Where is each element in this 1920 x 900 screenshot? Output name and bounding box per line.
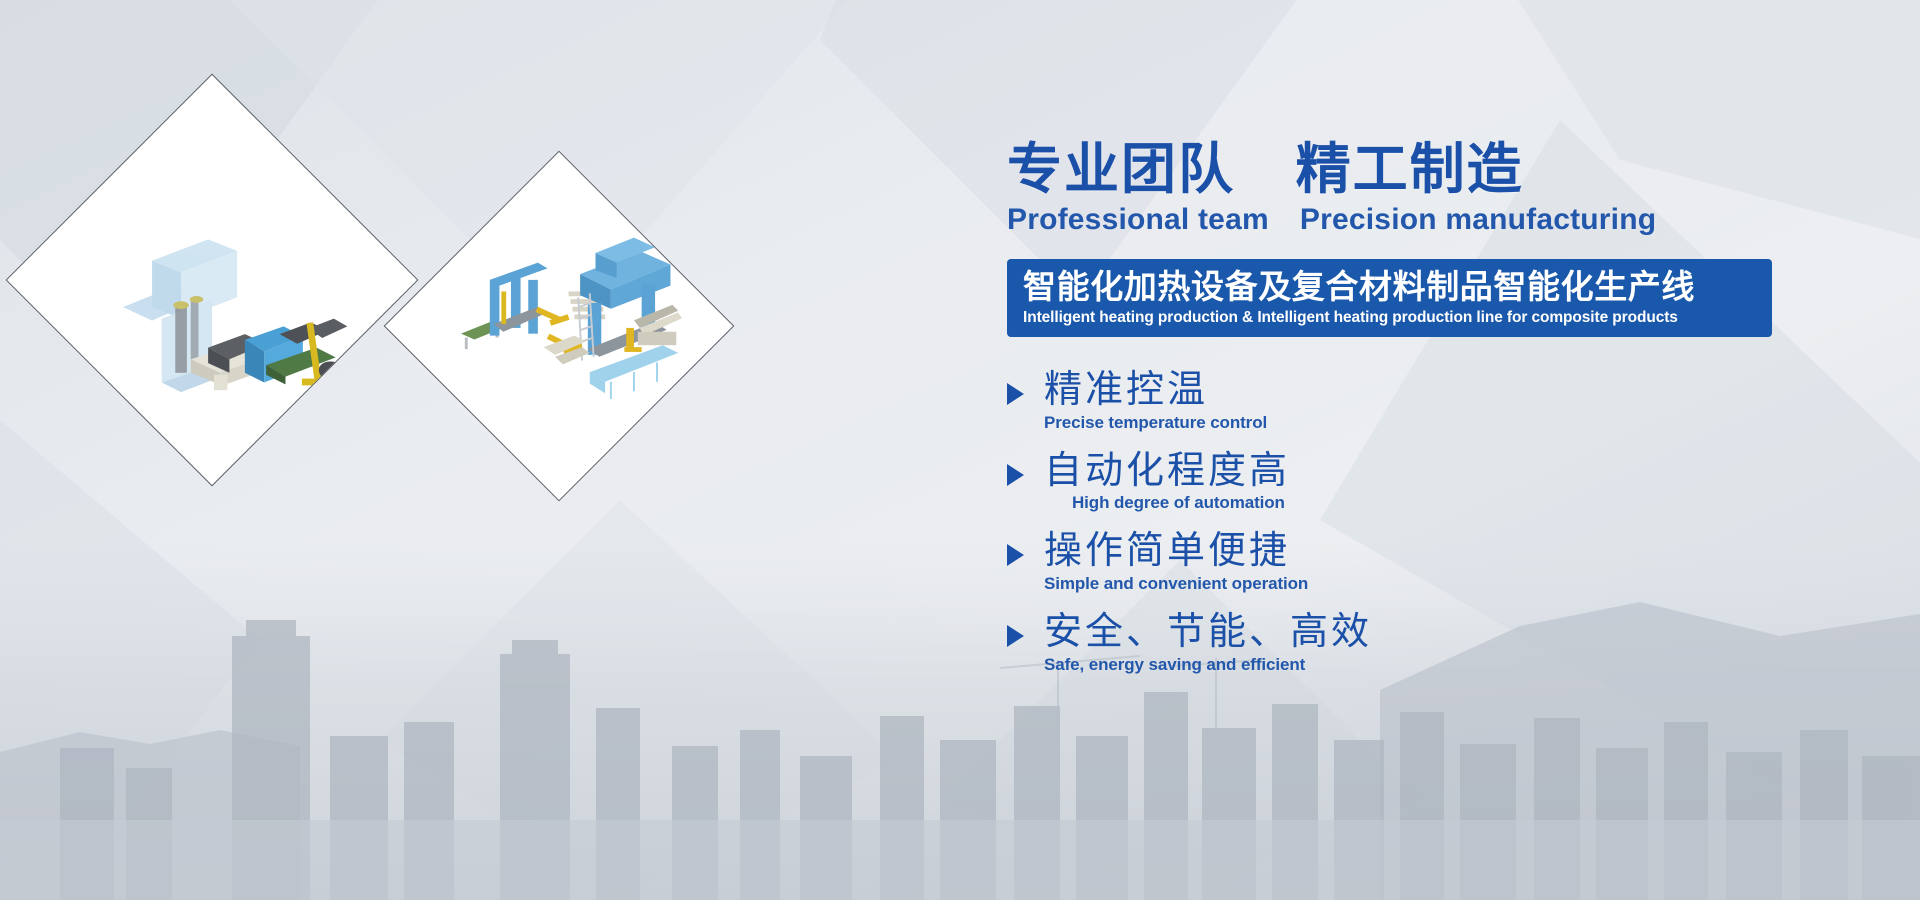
- content-column: 专业团队 精工制造 Professional team Precision ma…: [1007, 140, 1797, 692]
- page-subtitle: Professional team Precision manufacturin…: [1007, 203, 1797, 237]
- headline-cn-left: 专业团队: [1007, 138, 1235, 200]
- headline-en-left: Professional team: [1007, 203, 1269, 236]
- feature-label-cn: 自动化程度高: [1044, 450, 1290, 493]
- feature-label-en: High degree of automation: [1072, 493, 1285, 513]
- feature-label-en: Precise temperature control: [1044, 413, 1267, 433]
- product-banner-en: Intelligent heating production & Intelli…: [1023, 309, 1758, 327]
- feature-text: 安全、节能、高效 Safe, energy saving and efficie…: [1044, 611, 1372, 675]
- headline-en-right: Precision manufacturing: [1300, 203, 1656, 236]
- triangle-right-icon: [1007, 464, 1024, 486]
- triangle-right-icon: [1007, 544, 1024, 566]
- diamond-2-content: [436, 203, 682, 449]
- diamond-1-content: [67, 135, 357, 425]
- promo-banner: 专业团队 精工制造 Professional team Precision ma…: [0, 0, 1920, 900]
- triangle-right-icon: [1007, 383, 1024, 405]
- feature-label-en: Safe, energy saving and efficient: [1044, 655, 1305, 675]
- feature-label-en: Simple and convenient operation: [1044, 574, 1308, 594]
- feature-item: 安全、节能、高效 Safe, energy saving and efficie…: [1007, 611, 1797, 675]
- headline-cn-right: 精工制造: [1296, 138, 1524, 200]
- feature-label-cn: 安全、节能、高效: [1044, 611, 1372, 654]
- feature-item: 自动化程度高 High degree of automation: [1007, 450, 1797, 514]
- feature-list: 精准控温 Precise temperature control 自动化程度高 …: [1007, 369, 1797, 674]
- feature-item: 操作简单便捷 Simple and convenient operation: [1007, 530, 1797, 594]
- product-banner-bar: 智能化加热设备及复合材料制品智能化生产线 Intelligent heating…: [1007, 259, 1772, 337]
- feature-item: 精准控温 Precise temperature control: [1007, 369, 1797, 433]
- feature-text: 操作简单便捷 Simple and convenient operation: [1044, 530, 1308, 594]
- feature-text: 精准控温 Precise temperature control: [1044, 369, 1267, 433]
- triangle-right-icon: [1007, 625, 1024, 647]
- product-banner-cn: 智能化加热设备及复合材料制品智能化生产线: [1023, 268, 1758, 306]
- page-title: 专业团队 精工制造: [1007, 140, 1797, 199]
- feature-label-cn: 操作简单便捷: [1044, 530, 1308, 573]
- feature-label-cn: 精准控温: [1044, 369, 1267, 412]
- feature-text: 自动化程度高 High degree of automation: [1044, 450, 1290, 514]
